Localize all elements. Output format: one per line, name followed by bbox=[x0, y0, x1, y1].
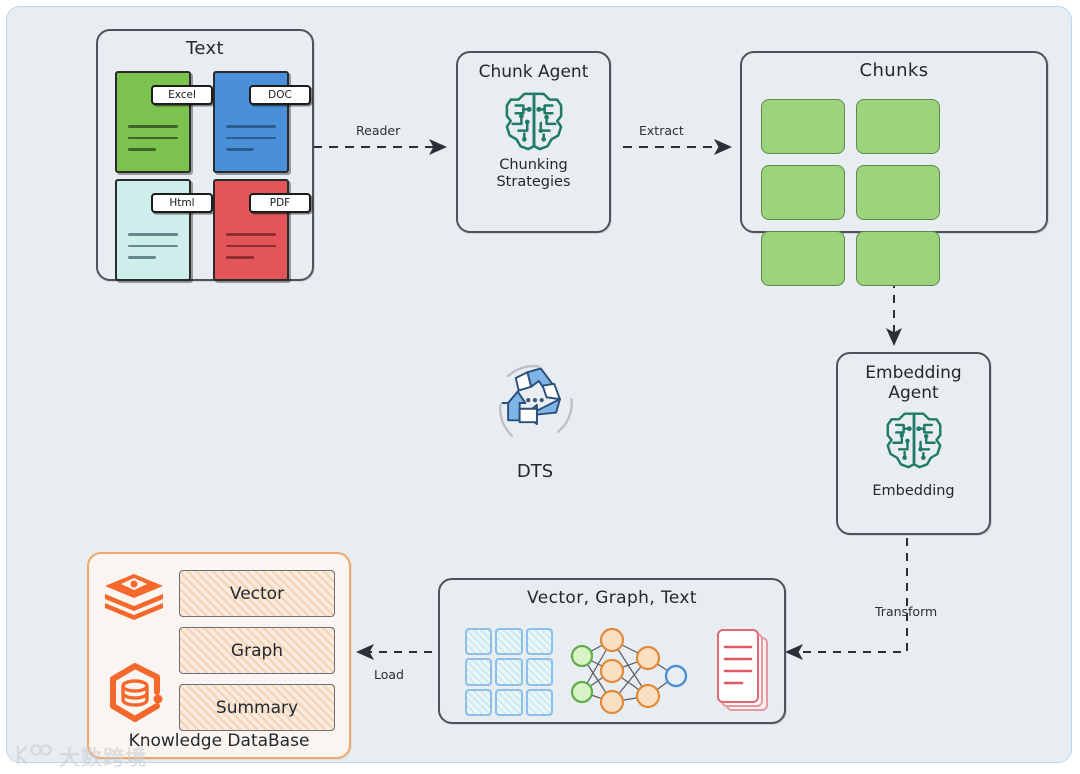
chunks-container: Chunks bbox=[740, 51, 1048, 233]
chunk-agent-subtitle-2: Strategies bbox=[496, 174, 570, 191]
kdb-item-graph[interactable]: Graph bbox=[179, 627, 335, 674]
vector-matrix-icon bbox=[465, 628, 553, 716]
dts-node: DTS bbox=[473, 355, 597, 491]
diagram-canvas: Reader Extract Transform Load Text Excel… bbox=[6, 6, 1072, 763]
chunk-box[interactable] bbox=[856, 231, 940, 286]
watermark-text: 大数跨境 bbox=[59, 742, 147, 772]
embedding-agent-title-1: Embedding bbox=[865, 364, 961, 384]
document-badge-doc: DOC bbox=[249, 85, 311, 105]
watermark: 大数跨境 bbox=[13, 740, 163, 774]
document-stack-icon bbox=[715, 628, 771, 716]
edge-label-reader: Reader bbox=[356, 123, 400, 138]
hexagon-database-icon bbox=[103, 662, 171, 728]
chunk-agent-title: Chunk Agent bbox=[479, 63, 589, 83]
vector-graph-text-row bbox=[440, 622, 784, 720]
document-card-pdf[interactable]: PDF bbox=[213, 179, 289, 281]
document-lines-icon bbox=[226, 125, 278, 160]
document-cards: Excel DOC Html PDF bbox=[98, 67, 312, 279]
document-badge-html: Html bbox=[151, 193, 213, 213]
edge-label-extract: Extract bbox=[639, 123, 684, 138]
chunk-box[interactable] bbox=[761, 99, 845, 154]
document-badge-excel: Excel bbox=[151, 85, 213, 105]
chunk-box[interactable] bbox=[856, 99, 940, 154]
embedding-agent-card[interactable]: Embedding Agent bbox=[836, 352, 991, 535]
dts-label: DTS bbox=[473, 461, 597, 482]
recycle-sync-icon bbox=[487, 436, 583, 455]
layers-stack-icon bbox=[103, 613, 165, 632]
text-group-container: Text Excel DOC Html PDF bbox=[96, 29, 314, 281]
chunks-title: Chunks bbox=[742, 60, 1046, 81]
chunk-agent-subtitle-1: Chunking bbox=[499, 157, 568, 174]
document-lines-icon bbox=[128, 233, 180, 268]
knowledge-database-panel: Vector Graph Summary Knowledge DataBase bbox=[87, 552, 351, 759]
knowledge-database-items: Vector Graph Summary bbox=[179, 570, 335, 741]
k100-logo-icon bbox=[13, 742, 53, 772]
document-card-excel[interactable]: Excel bbox=[115, 71, 191, 173]
chunk-box[interactable] bbox=[761, 165, 845, 220]
circuit-brain-icon bbox=[503, 87, 565, 157]
edge-label-transform: Transform bbox=[875, 604, 937, 619]
chunks-grid bbox=[761, 99, 1031, 286]
chunk-box[interactable] bbox=[761, 231, 845, 286]
chunk-box[interactable] bbox=[856, 165, 940, 220]
kdb-item-vector[interactable]: Vector bbox=[179, 570, 335, 617]
document-lines-icon bbox=[226, 233, 278, 268]
vector-graph-text-title: Vector, Graph, Text bbox=[440, 588, 784, 608]
edge-label-load: Load bbox=[374, 667, 404, 682]
document-lines-icon bbox=[128, 125, 180, 160]
text-group-title: Text bbox=[98, 38, 312, 59]
chunk-agent-card[interactable]: Chunk Agent bbox=[456, 51, 611, 233]
document-badge-pdf: PDF bbox=[249, 193, 311, 213]
embedding-agent-title-2: Agent bbox=[888, 384, 938, 404]
knowledge-database-icons bbox=[103, 572, 171, 728]
vector-graph-text-container: Vector, Graph, Text bbox=[438, 578, 786, 724]
document-card-html[interactable]: Html bbox=[115, 179, 191, 281]
embedding-agent-subtitle: Embedding bbox=[872, 483, 954, 500]
document-card-doc[interactable]: DOC bbox=[213, 71, 289, 173]
circuit-brain-icon bbox=[884, 407, 944, 475]
kdb-item-summary[interactable]: Summary bbox=[179, 684, 335, 731]
neural-network-icon bbox=[568, 624, 688, 718]
